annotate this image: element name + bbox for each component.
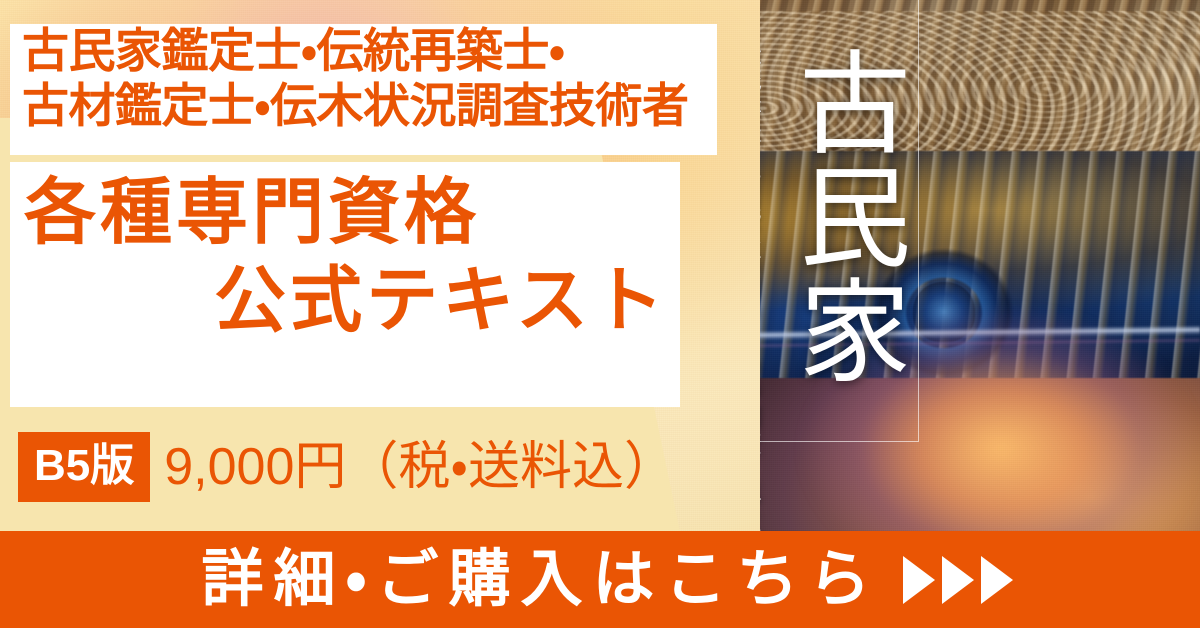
triangle-right-icon: [942, 556, 974, 604]
cta-arrow-group: [903, 556, 1013, 604]
subheadline-line-1: 各種専門資格: [10, 170, 680, 258]
headline-line-2: 古材鑑定士・伝木状況調査技術者: [22, 79, 722, 134]
format-badge: B5版: [18, 432, 150, 502]
promo-banner: 古民家 伝統構法 古民家活用のための調査と再生の 古民家鑑定士・伝統再築士・ 古…: [0, 0, 1200, 628]
subheadline-line-2: 公式テキスト: [10, 258, 680, 346]
cta-label: 詳細・ご購入はこちら: [187, 549, 880, 611]
cta-bar[interactable]: 詳細・ご購入はこちら: [0, 531, 1200, 628]
headline-line-1: 古民家鑑定士・伝統再築士・: [22, 24, 722, 79]
book-cover-title: 古民家: [759, 6, 915, 426]
triangle-right-icon: [903, 556, 935, 604]
headline: 古民家鑑定士・伝統再築士・ 古材鑑定士・伝木状況調査技術者: [22, 24, 722, 134]
triangle-right-icon: [981, 556, 1013, 604]
price-row: B5版 9,000円（税・送料込）: [18, 422, 676, 512]
subheadline: 各種専門資格 公式テキスト: [10, 170, 680, 346]
price-amount: 9,000円（税・送料込）: [164, 441, 676, 493]
